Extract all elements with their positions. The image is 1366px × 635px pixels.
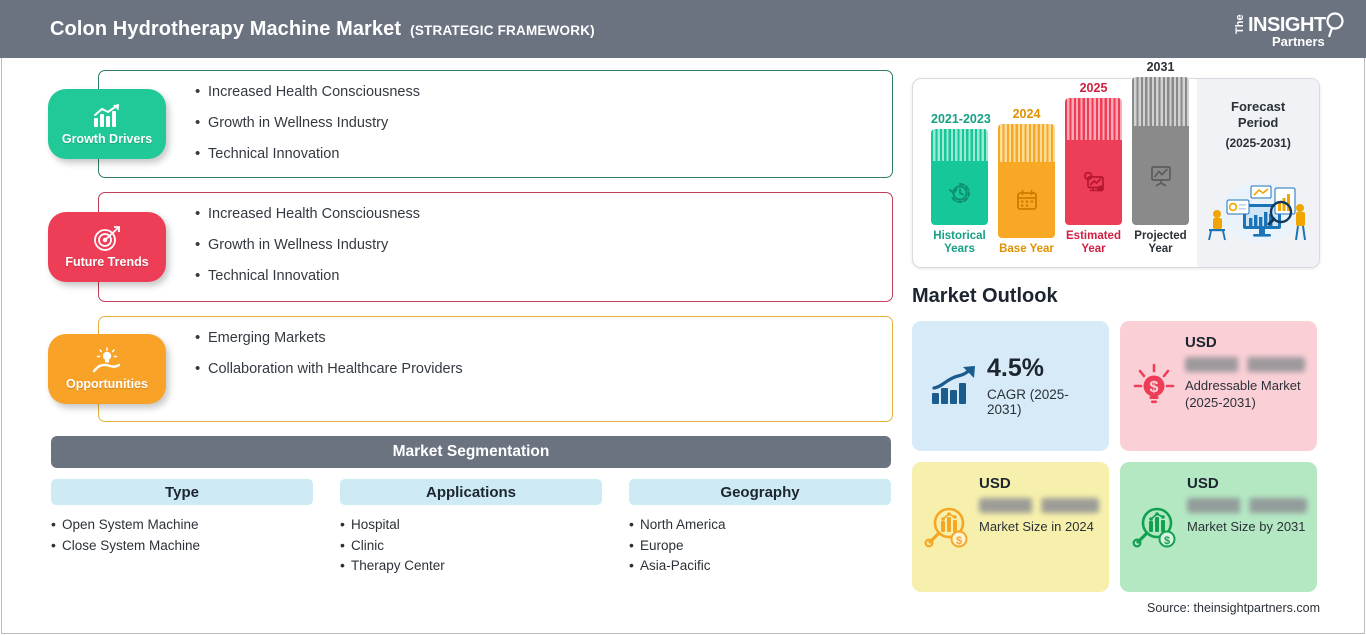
- bar-stripe-top: [1065, 98, 1122, 140]
- segmentation-column-geography: Geography North America Europe Asia-Paci…: [629, 479, 891, 577]
- list-item: Growth in Wellness Industry: [195, 116, 874, 131]
- card-description: Market Size in 2024: [979, 518, 1099, 535]
- segmentation-list: Hospital Clinic Therapy Center: [340, 515, 602, 577]
- bar-name-label: Projected Year: [1132, 230, 1189, 257]
- magnifier-bar-chart-dollar-icon: $: [924, 475, 970, 579]
- forecast-bar-base: 2024: [998, 107, 1055, 257]
- forecast-bar-estimated: 2025: [1065, 81, 1122, 257]
- calendar-icon: [1015, 188, 1039, 212]
- svg-text:$: $: [1150, 379, 1159, 396]
- bar-year-label: 2031: [1132, 60, 1189, 74]
- badge-future-trends[interactable]: Future Trends: [48, 212, 166, 282]
- cagr-value: 4.5%: [987, 356, 1097, 381]
- lightbulb-dollar-icon: $: [1132, 334, 1176, 438]
- insight-partners-logo: The INSIGHT Partners: [1228, 8, 1348, 50]
- lightbulb-in-hand-icon: [92, 347, 122, 374]
- list-item: Growth in Wellness Industry: [195, 238, 874, 253]
- list-item: Increased Health Consciousness: [195, 85, 874, 100]
- outlook-cards: 4.5% CAGR (2025-2031) $: [912, 321, 1324, 592]
- bar-column: [931, 129, 988, 225]
- currency-label: USD: [1185, 334, 1305, 351]
- forecast-bar-historical: 2021-2023: [931, 112, 988, 257]
- bar-solid-body: [1065, 140, 1122, 225]
- market-outlook-title: Market Outlook: [912, 285, 1324, 308]
- segmentation-columns: Type Open System Machine Close System Ma…: [51, 479, 893, 577]
- framework-row-opportunities: Opportunities Emerging Markets Collabora…: [48, 316, 893, 422]
- infographic-page: Colon Hydrotherapy Machine Market (STRAT…: [0, 0, 1366, 635]
- data-analytics-illustration: [1203, 172, 1313, 244]
- blurred-value: [1187, 498, 1307, 513]
- chart-gear-icon: [1081, 170, 1107, 194]
- outlook-card-addressable-market: $ USD Addressable Market (2025-203: [1120, 321, 1317, 451]
- target-dartboard-icon: [93, 225, 121, 252]
- segmentation-list: Open System Machine Close System Machine: [51, 515, 313, 556]
- forecast-period-side: Forecast Period (2025-2031): [1197, 79, 1319, 267]
- list-item: Asia-Pacific: [629, 556, 891, 577]
- clock-history-icon: [947, 180, 973, 206]
- bar-year-label: 2024: [998, 107, 1055, 121]
- list-item: Emerging Markets: [195, 331, 874, 346]
- bar-solid-body: [1132, 126, 1189, 225]
- logo-icon: The INSIGHT Partners: [1228, 8, 1348, 50]
- bar-year-label: 2021-2023: [931, 112, 988, 126]
- framework-box-growth-drivers: Increased Health Consciousness Growth in…: [98, 70, 893, 178]
- forecast-bars: 2021-2023: [913, 79, 1197, 267]
- forecast-side-range: (2025-2031): [1225, 136, 1290, 150]
- badge-growth-drivers[interactable]: Growth Drivers: [48, 89, 166, 159]
- bar-stripe-top: [931, 129, 988, 161]
- bar-name-label: Base Year: [998, 243, 1055, 257]
- list-item: Technical Innovation: [195, 269, 874, 284]
- bar-solid-body: [998, 162, 1055, 238]
- bar-chart-growth-icon: [92, 102, 122, 129]
- source-attribution: Source: theinsightpartners.com: [912, 601, 1320, 615]
- outlook-card-cagr: 4.5% CAGR (2025-2031): [912, 321, 1109, 451]
- framework-column: Growth Drivers Increased Health Consciou…: [48, 70, 893, 577]
- svg-text:$: $: [1164, 535, 1170, 547]
- magnifier-bar-chart-dollar-icon: $: [1132, 475, 1178, 579]
- list-item: Europe: [629, 536, 891, 557]
- badge-opportunities[interactable]: Opportunities: [48, 334, 166, 404]
- segmentation-column-applications: Applications Hospital Clinic Therapy Cen…: [340, 479, 602, 577]
- currency-label: USD: [979, 475, 1099, 492]
- segmentation-title: Applications: [340, 479, 602, 505]
- list-item: Therapy Center: [340, 556, 602, 577]
- segmentation-list: North America Europe Asia-Pacific: [629, 515, 891, 577]
- bullet-list-growth-drivers: Increased Health Consciousness Growth in…: [195, 85, 874, 163]
- page-subtitle: (STRATEGIC FRAMEWORK): [410, 23, 595, 38]
- segmentation-title: Type: [51, 479, 313, 505]
- svg-text:INSIGHT: INSIGHT: [1248, 14, 1326, 36]
- badge-label: Future Trends: [65, 255, 148, 269]
- cagr-body: 4.5% CAGR (2025-2031): [987, 356, 1097, 417]
- content-frame: Growth Drivers Increased Health Consciou…: [1, 58, 1365, 634]
- list-item: Clinic: [340, 536, 602, 557]
- bar-solid-body: [931, 161, 988, 225]
- market-size-2024-body: USD Market Size in 2024: [979, 475, 1099, 579]
- list-item: North America: [629, 515, 891, 536]
- svg-text:$: $: [956, 535, 962, 547]
- framework-row-future-trends: Future Trends Increased Health Conscious…: [48, 192, 893, 302]
- market-segmentation-header: Market Segmentation: [51, 436, 891, 468]
- svg-text:The: The: [1234, 14, 1246, 34]
- list-item: Increased Health Consciousness: [195, 207, 874, 222]
- forecast-side-title-line2: Period: [1238, 115, 1278, 131]
- bullet-list-future-trends: Increased Health Consciousness Growth in…: [195, 207, 874, 285]
- bar-column: [998, 124, 1055, 238]
- list-item: Technical Innovation: [195, 147, 874, 162]
- currency-label: USD: [1187, 475, 1307, 492]
- bar-column: [1132, 77, 1189, 225]
- badge-label: Opportunities: [66, 377, 148, 391]
- segmentation-column-type: Type Open System Machine Close System Ma…: [51, 479, 313, 577]
- bar-stripe-top: [998, 124, 1055, 162]
- bar-name-label: Estimated Year: [1065, 230, 1122, 257]
- outlook-card-market-size-2031: $ USD Market Size by 2031: [1120, 462, 1317, 592]
- bar-column: [1065, 98, 1122, 225]
- bar-name-label: Historical Years: [931, 230, 988, 257]
- page-header: Colon Hydrotherapy Machine Market (STRAT…: [0, 0, 1366, 58]
- outlook-card-market-size-2024: $ USD Market Size in 2024: [912, 462, 1109, 592]
- list-item: Close System Machine: [51, 536, 313, 557]
- forecast-bar-projected: 2031 Projected Year: [1132, 60, 1189, 257]
- card-description: Addressable Market (2025-2031): [1185, 377, 1305, 412]
- blurred-value: [1185, 357, 1305, 372]
- svg-text:Partners: Partners: [1272, 34, 1325, 49]
- cagr-label: CAGR (2025-2031): [987, 387, 1097, 417]
- addressable-body: USD Addressable Market (2025-2031): [1185, 334, 1305, 438]
- card-description: Market Size by 2031: [1187, 518, 1307, 535]
- segmentation-title: Geography: [629, 479, 891, 505]
- blurred-value: [979, 498, 1099, 513]
- presentation-chart-icon: [1148, 163, 1174, 187]
- bar-stripe-top: [1132, 77, 1189, 126]
- framework-box-opportunities: Emerging Markets Collaboration with Heal…: [98, 316, 893, 422]
- forecast-period-panel: 2021-2023: [912, 78, 1320, 268]
- list-item: Collaboration with Healthcare Providers: [195, 362, 874, 377]
- bar-year-label: 2025: [1065, 81, 1122, 95]
- outlook-column: 2021-2023: [912, 78, 1324, 615]
- framework-box-future-trends: Increased Health Consciousness Growth in…: [98, 192, 893, 302]
- list-item: Open System Machine: [51, 515, 313, 536]
- bullet-list-opportunities: Emerging Markets Collaboration with Heal…: [195, 331, 874, 377]
- list-item: Hospital: [340, 515, 602, 536]
- badge-label: Growth Drivers: [62, 132, 152, 146]
- bar-chart-arrow-up-icon: [930, 364, 978, 408]
- market-size-2031-body: USD Market Size by 2031: [1187, 475, 1307, 579]
- forecast-side-title-line1: Forecast: [1231, 99, 1285, 115]
- framework-row-growth-drivers: Growth Drivers Increased Health Consciou…: [48, 70, 893, 178]
- page-title: Colon Hydrotherapy Machine Market: [50, 18, 401, 41]
